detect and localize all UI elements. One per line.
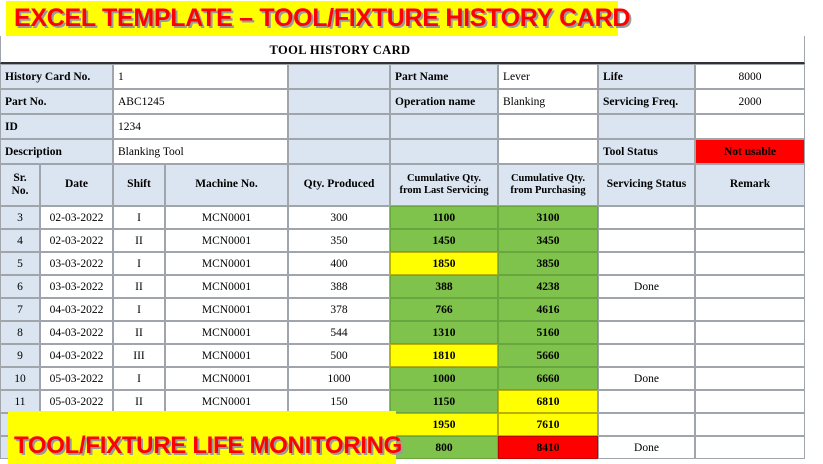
info-label-left-2: ID [0, 114, 113, 139]
row-3-machine-no[interactable]: MCN0001 [165, 275, 288, 298]
row-4-qty-produced[interactable]: 378 [288, 298, 390, 321]
row-7-cumulative-since-purchase[interactable]: 6660 [498, 367, 598, 390]
row-5-cumulative-since-purchase[interactable]: 5160 [498, 321, 598, 344]
row-5-cumulative-since-servicing[interactable]: 1310 [390, 321, 498, 344]
row-3-cumulative-since-servicing[interactable]: 388 [390, 275, 498, 298]
info-value-mid-2[interactable] [498, 114, 598, 139]
row-6-cumulative-since-purchase[interactable]: 5660 [498, 344, 598, 367]
info-spacer-1 [288, 89, 390, 114]
row-0-sr-no: 3 [0, 206, 40, 229]
info-value-mid-1[interactable]: Blanking [498, 89, 598, 114]
row-2-remark[interactable] [695, 252, 805, 275]
row-3-qty-produced[interactable]: 388 [288, 275, 390, 298]
row-4-shift[interactable]: I [113, 298, 165, 321]
row-5-shift[interactable]: II [113, 321, 165, 344]
info-label-left-3: Description [0, 139, 113, 164]
column-header-servicing: Servicing Status [598, 164, 695, 206]
info-label-mid-1: Operation name [390, 89, 498, 114]
info-value-left-0[interactable]: 1 [113, 64, 288, 89]
row-6-servicing-status[interactable] [598, 344, 695, 367]
row-3-date[interactable]: 03-03-2022 [40, 275, 113, 298]
row-6-remark[interactable] [695, 344, 805, 367]
info-value-mid-3[interactable] [498, 139, 598, 164]
row-7-sr-no: 10 [0, 367, 40, 390]
info-label-right-1: Servicing Freq. [598, 89, 695, 114]
row-3-sr-no: 6 [0, 275, 40, 298]
info-label-mid-3 [390, 139, 498, 164]
info-label-left-0: History Card No. [0, 64, 113, 89]
row-4-sr-no: 7 [0, 298, 40, 321]
row-0-machine-no[interactable]: MCN0001 [165, 206, 288, 229]
row-8-sr-no: 11 [0, 390, 40, 413]
row-7-machine-no[interactable]: MCN0001 [165, 367, 288, 390]
info-value-right-2[interactable] [695, 114, 805, 139]
info-value-left-1[interactable]: ABC1245 [113, 89, 288, 114]
row-2-sr-no: 5 [0, 252, 40, 275]
row-0-date[interactable]: 02-03-2022 [40, 206, 113, 229]
row-1-remark[interactable] [695, 229, 805, 252]
row-9-cumulative-since-purchase[interactable]: 7610 [498, 413, 598, 436]
row-1-sr-no: 4 [0, 229, 40, 252]
info-label-left-1: Part No. [0, 89, 113, 114]
info-label-mid-2 [390, 114, 498, 139]
column-header-cum_purchase: Cumulative Qty.from Purchasing [498, 164, 598, 206]
top-banner: EXCEL TEMPLATE – TOOL/FIXTURE HISTORY CA… [6, 1, 618, 36]
row-5-date[interactable]: 04-03-2022 [40, 321, 113, 344]
row-6-cumulative-since-servicing[interactable]: 1810 [390, 344, 498, 367]
row-6-date[interactable]: 04-03-2022 [40, 344, 113, 367]
row-10-remark[interactable] [695, 436, 805, 459]
info-spacer-0 [288, 64, 390, 89]
row-8-machine-no[interactable]: MCN0001 [165, 390, 288, 413]
row-7-servicing-status[interactable]: Done [598, 367, 695, 390]
row-4-date[interactable]: 04-03-2022 [40, 298, 113, 321]
column-header-date: Date [40, 164, 113, 206]
row-10-servicing-status[interactable]: Done [598, 436, 695, 459]
row-7-cumulative-since-servicing[interactable]: 1000 [390, 367, 498, 390]
row-0-cumulative-since-servicing[interactable]: 1100 [390, 206, 498, 229]
row-8-servicing-status[interactable] [598, 390, 695, 413]
info-label-right-0: Life [598, 64, 695, 89]
row-7-remark[interactable] [695, 367, 805, 390]
row-1-cumulative-since-purchase[interactable]: 3450 [498, 229, 598, 252]
row-1-date[interactable]: 02-03-2022 [40, 229, 113, 252]
row-8-qty-produced[interactable]: 150 [288, 390, 390, 413]
info-value-left-3[interactable]: Blanking Tool [113, 139, 288, 164]
row-7-date[interactable]: 05-03-2022 [40, 367, 113, 390]
row-2-servicing-status[interactable] [598, 252, 695, 275]
info-label-right-3: Tool Status [598, 139, 695, 164]
row-4-remark[interactable] [695, 298, 805, 321]
row-8-cumulative-since-servicing[interactable]: 1150 [390, 390, 498, 413]
row-5-qty-produced[interactable]: 544 [288, 321, 390, 344]
row-9-cumulative-since-servicing[interactable]: 1950 [390, 413, 498, 436]
column-header-qty: Qty. Produced [288, 164, 390, 206]
row-0-shift[interactable]: I [113, 206, 165, 229]
row-0-qty-produced[interactable]: 300 [288, 206, 390, 229]
column-header-shift: Shift [113, 164, 165, 206]
row-3-shift[interactable]: II [113, 275, 165, 298]
info-value-right-0[interactable]: 8000 [695, 64, 805, 89]
row-9-servicing-status[interactable] [598, 413, 695, 436]
row-5-remark[interactable] [695, 321, 805, 344]
row-2-cumulative-since-servicing[interactable]: 1850 [390, 252, 498, 275]
row-2-cumulative-since-purchase[interactable]: 3850 [498, 252, 598, 275]
row-10-cumulative-since-servicing[interactable]: 800 [390, 436, 498, 459]
info-value-right-1[interactable]: 2000 [695, 89, 805, 114]
row-0-remark[interactable] [695, 206, 805, 229]
row-1-cumulative-since-servicing[interactable]: 1450 [390, 229, 498, 252]
row-3-cumulative-since-purchase[interactable]: 4238 [498, 275, 598, 298]
row-6-qty-produced[interactable]: 500 [288, 344, 390, 367]
row-4-servicing-status[interactable] [598, 298, 695, 321]
row-4-cumulative-since-servicing[interactable]: 766 [390, 298, 498, 321]
info-label-mid-0: Part Name [390, 64, 498, 89]
row-5-sr-no: 8 [0, 321, 40, 344]
row-8-remark[interactable] [695, 390, 805, 413]
row-7-shift[interactable]: I [113, 367, 165, 390]
row-0-cumulative-since-purchase[interactable]: 3100 [498, 206, 598, 229]
row-7-qty-produced[interactable]: 1000 [288, 367, 390, 390]
row-8-date[interactable]: 05-03-2022 [40, 390, 113, 413]
row-8-shift[interactable]: II [113, 390, 165, 413]
column-header-cum_last: Cumulative Qty.from Last Servicing [390, 164, 498, 206]
row-6-machine-no[interactable]: MCN0001 [165, 344, 288, 367]
row-6-shift[interactable]: III [113, 344, 165, 367]
row-4-cumulative-since-purchase[interactable]: 4616 [498, 298, 598, 321]
column-header-sr: Sr.No. [0, 164, 40, 206]
row-3-remark[interactable] [695, 275, 805, 298]
sheet-title: TOOL HISTORY CARD [0, 36, 680, 64]
row-9-remark[interactable] [695, 413, 805, 436]
row-2-date[interactable]: 03-03-2022 [40, 252, 113, 275]
row-2-shift[interactable]: I [113, 252, 165, 275]
row-1-qty-produced[interactable]: 350 [288, 229, 390, 252]
row-2-machine-no[interactable]: MCN0001 [165, 252, 288, 275]
row-2-qty-produced[interactable]: 400 [288, 252, 390, 275]
row-1-machine-no[interactable]: MCN0001 [165, 229, 288, 252]
bottom-banner: TOOL/FIXTURE LIFE MONITORING [8, 411, 396, 464]
row-1-shift[interactable]: II [113, 229, 165, 252]
column-header-machine: Machine No. [165, 164, 288, 206]
row-10-cumulative-since-purchase[interactable]: 8410 [498, 436, 598, 459]
row-3-servicing-status[interactable]: Done [598, 275, 695, 298]
tool-status-badge[interactable]: Not usable [695, 139, 805, 164]
row-5-machine-no[interactable]: MCN0001 [165, 321, 288, 344]
row-1-servicing-status[interactable] [598, 229, 695, 252]
info-label-right-2 [598, 114, 695, 139]
info-value-mid-0[interactable]: Lever [498, 64, 598, 89]
row-0-servicing-status[interactable] [598, 206, 695, 229]
info-spacer-2 [288, 114, 390, 139]
row-8-cumulative-since-purchase[interactable]: 6810 [498, 390, 598, 413]
info-spacer-3 [288, 139, 390, 164]
row-6-sr-no: 9 [0, 344, 40, 367]
info-value-left-2[interactable]: 1234 [113, 114, 288, 139]
spreadsheet-canvas: TOOL HISTORY CARD History Card No.1Part … [0, 0, 823, 463]
row-4-machine-no[interactable]: MCN0001 [165, 298, 288, 321]
row-5-servicing-status[interactable] [598, 321, 695, 344]
column-header-remark: Remark [695, 164, 805, 206]
